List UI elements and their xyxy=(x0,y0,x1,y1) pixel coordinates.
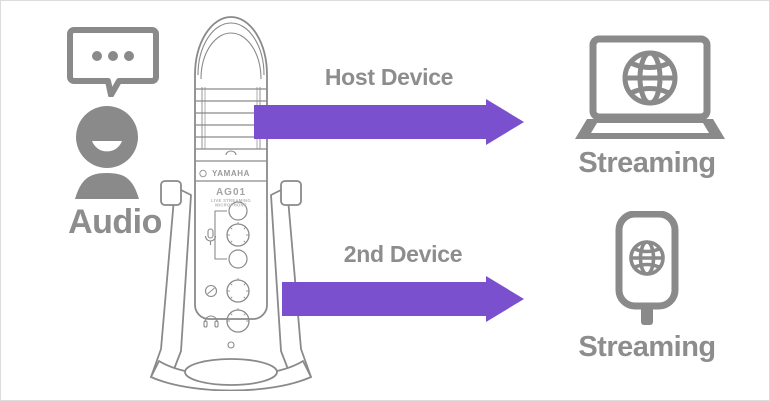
laptop-globe-icon xyxy=(575,35,725,145)
host-target-group: Streaming xyxy=(529,35,765,185)
brand-text: YAMAHA xyxy=(212,169,250,178)
diagram-canvas: Audio xyxy=(0,0,770,401)
second-device-label: 2nd Device xyxy=(282,241,524,268)
second-streaming-label: Streaming xyxy=(529,331,765,364)
host-device-arrow xyxy=(254,99,524,145)
second-target-group: Streaming xyxy=(529,211,765,371)
person-icon xyxy=(67,105,147,201)
bubble-dot xyxy=(108,51,118,61)
bubble-dot xyxy=(124,51,134,61)
bubble-dot xyxy=(92,51,102,61)
smartphone-globe-icon xyxy=(607,211,687,327)
model-text: AG01 xyxy=(216,187,246,198)
second-device-arrow xyxy=(282,276,524,322)
model-subtitle-line2: MICROPHONE xyxy=(215,203,247,208)
host-device-label: Host Device xyxy=(254,64,524,91)
host-streaming-label: Streaming xyxy=(529,147,765,180)
